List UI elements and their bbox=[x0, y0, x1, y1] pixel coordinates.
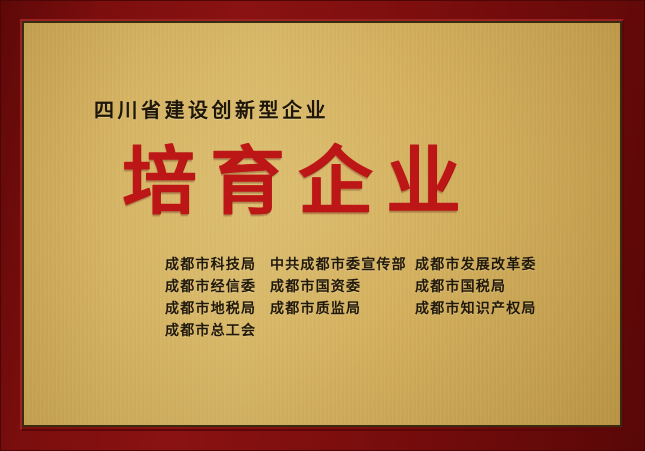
award-plaque: 四川省建设创新型企业 培育企业 成都市科技局 中共成都市委宣传部 成都市发展改革… bbox=[0, 0, 645, 451]
agency-name: 中共成都市委宣传部 bbox=[270, 254, 415, 274]
agency-name: 成都市科技局 bbox=[165, 254, 270, 274]
agency-row: 成都市科技局 中共成都市委宣传部 成都市发展改革委 bbox=[165, 254, 605, 276]
agency-name: 成都市发展改革委 bbox=[415, 254, 585, 274]
issuing-agencies-list: 成都市科技局 中共成都市委宣传部 成都市发展改革委 成都市经信委 成都市国资委 … bbox=[165, 254, 605, 342]
plaque-content: 四川省建设创新型企业 培育企业 成都市科技局 中共成都市委宣传部 成都市发展改革… bbox=[24, 23, 620, 425]
agency-name: 成都市国税局 bbox=[415, 276, 585, 296]
agency-name: 成都市经信委 bbox=[165, 276, 270, 296]
agency-name: 成都市地税局 bbox=[165, 298, 270, 318]
agency-name: 成都市知识产权局 bbox=[415, 298, 585, 318]
plaque-gold-panel: 四川省建设创新型企业 培育企业 成都市科技局 中共成都市委宣传部 成都市发展改革… bbox=[24, 23, 620, 425]
agency-row: 成都市经信委 成都市国资委 成都市国税局 bbox=[165, 276, 605, 298]
plaque-subtitle: 四川省建设创新型企业 bbox=[94, 94, 329, 123]
agency-name: 成都市总工会 bbox=[165, 320, 270, 340]
agency-row: 成都市地税局 成都市质监局 成都市知识产权局 bbox=[165, 298, 605, 320]
agency-name: 成都市质监局 bbox=[270, 298, 415, 318]
agency-name: 成都市国资委 bbox=[270, 276, 415, 296]
plaque-main-title: 培育企业 bbox=[122, 145, 474, 219]
agency-row: 成都市总工会 bbox=[165, 320, 605, 342]
